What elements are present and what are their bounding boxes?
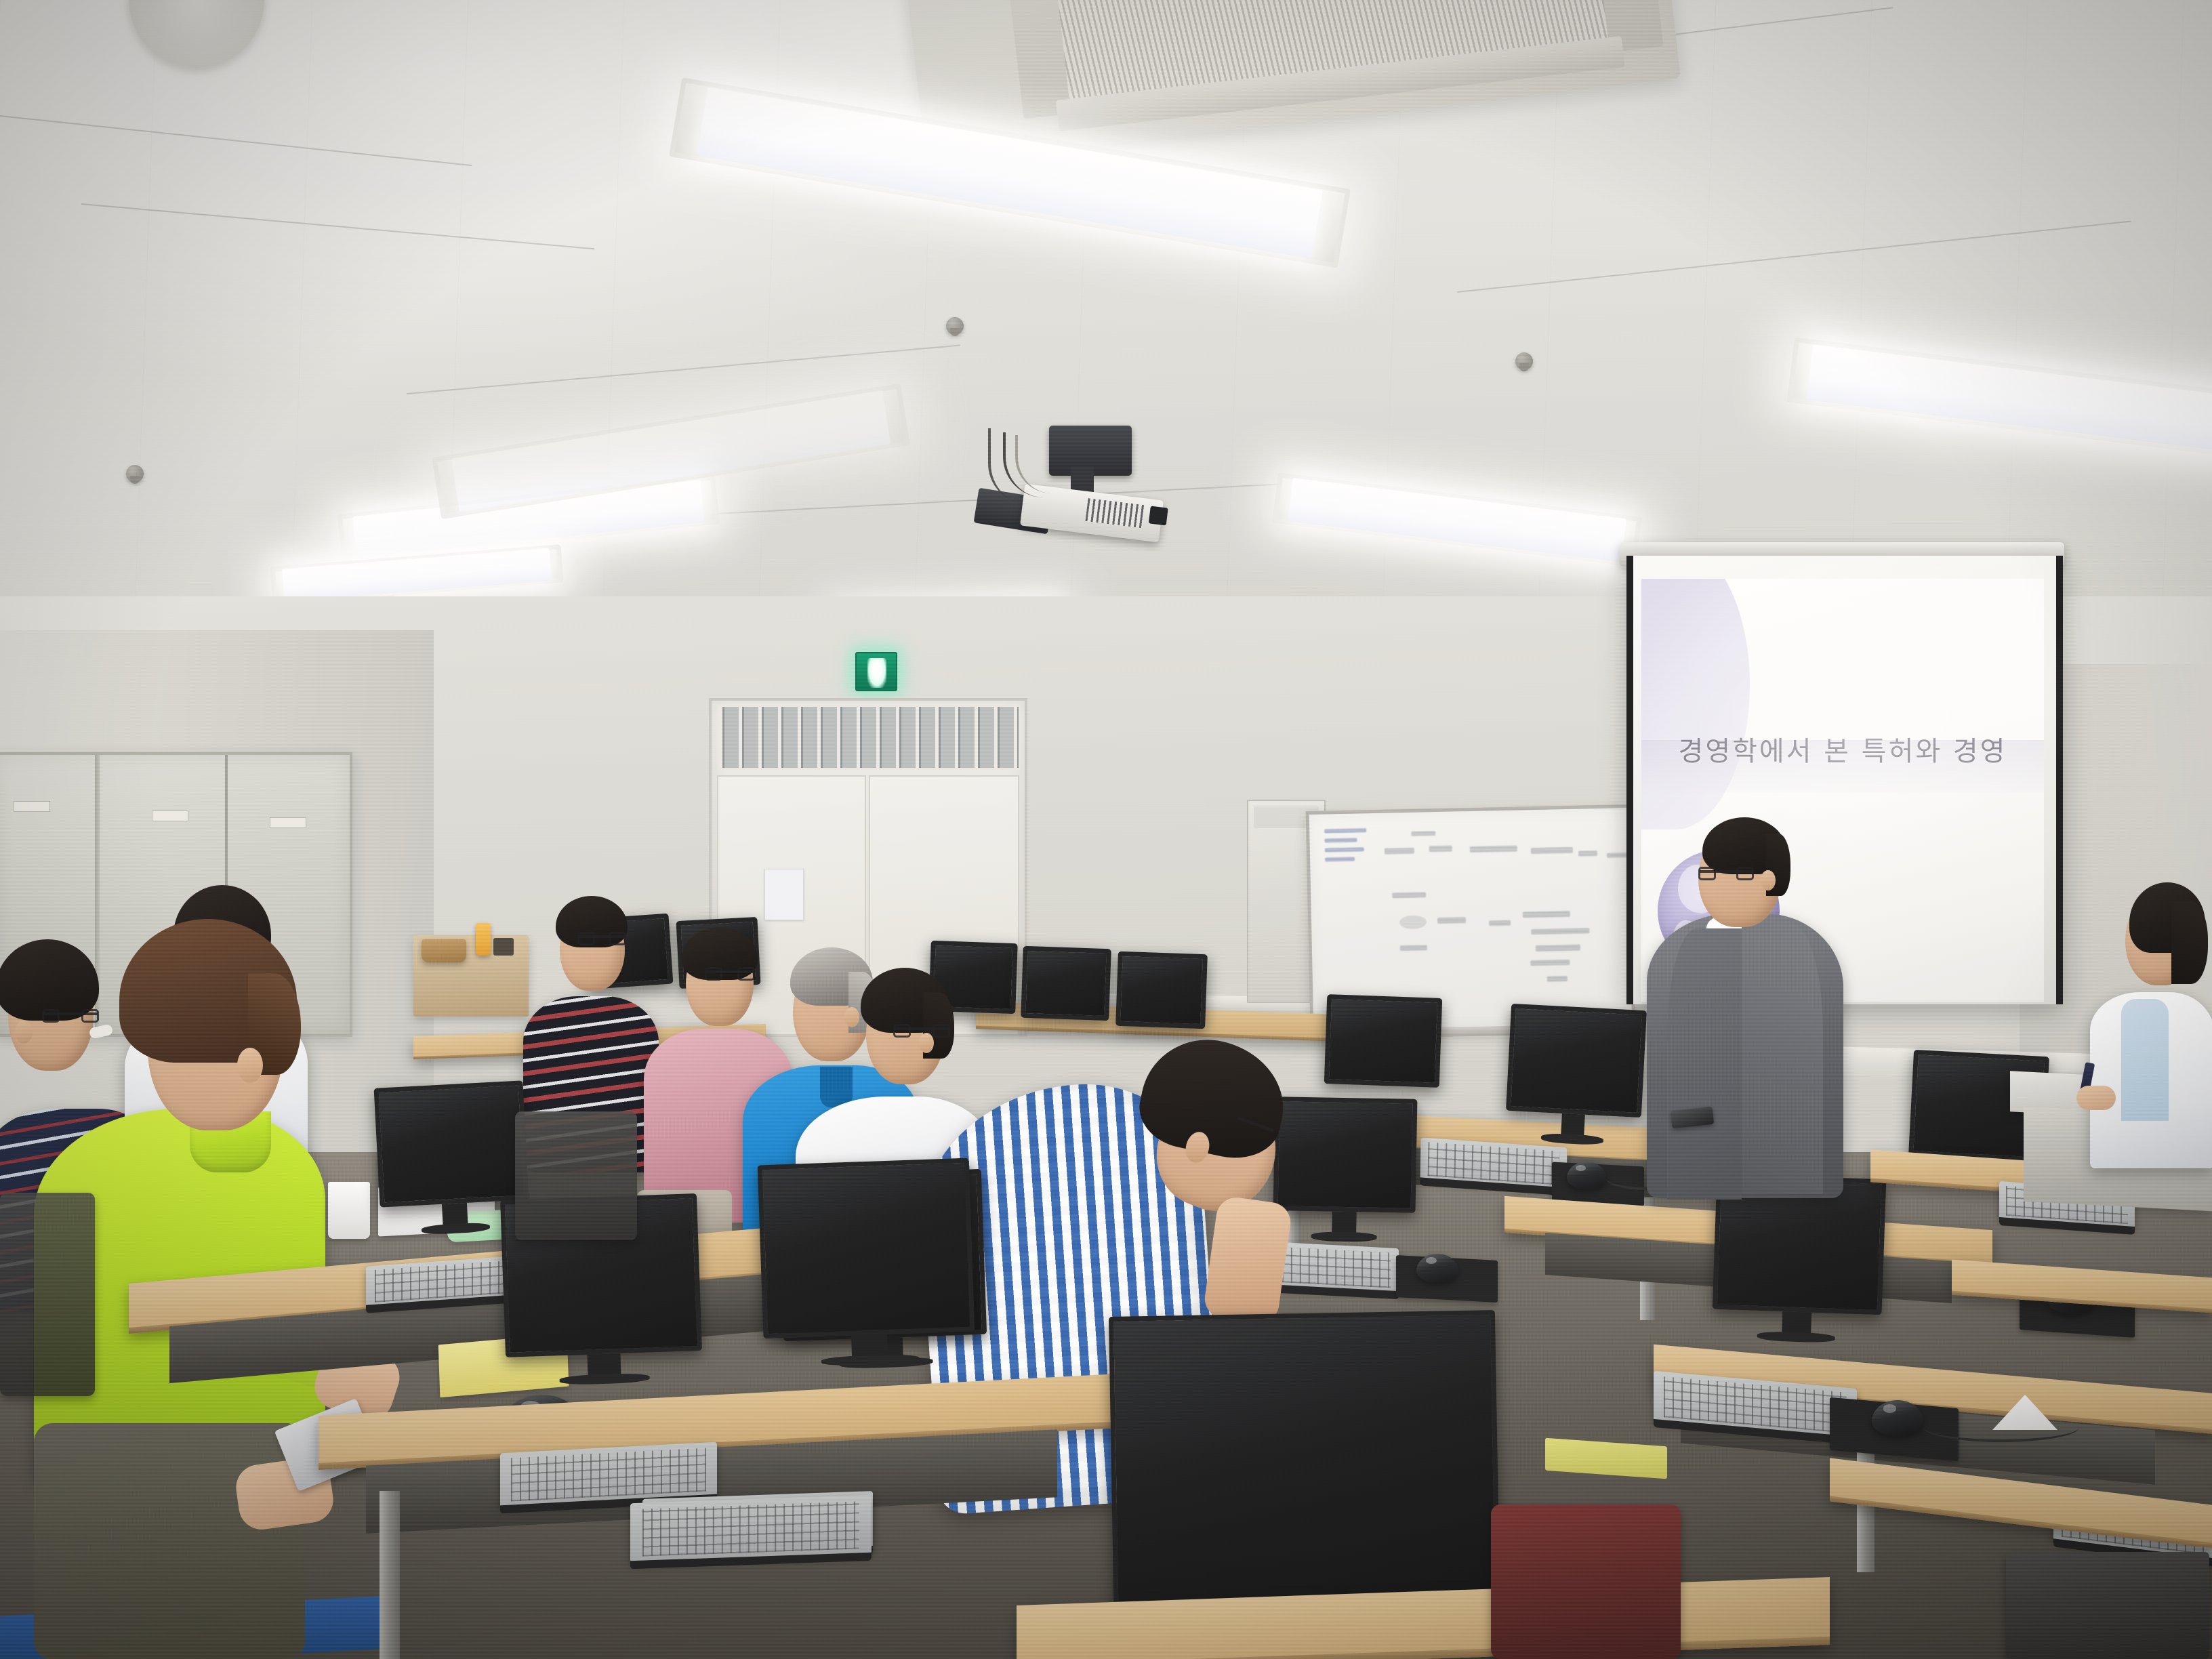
transom-window: [717, 705, 1021, 770]
sprinkler-icon: [946, 317, 964, 335]
woman-hand: [2076, 1086, 2116, 1110]
monitor: [1115, 951, 1208, 1029]
presenter-ear: [1761, 870, 1776, 890]
lime-polo-ear: [237, 1048, 263, 1083]
door-notice: [764, 869, 804, 920]
cabinet-label: [14, 801, 50, 812]
presenter-glasses: [1700, 870, 1753, 873]
chair[interactable]: [2006, 1552, 2209, 1659]
ceiling-projector: [976, 426, 1186, 554]
side-table: [413, 935, 529, 1017]
lime-polo-trousers: [34, 1423, 305, 1659]
desk-basket: [422, 939, 466, 962]
slide-title: 경영학에서 본 특허와 경영: [1641, 729, 2044, 769]
running-person-icon: [867, 658, 886, 688]
classroom-photo: 경영학에서 본 특허와 경영: [0, 0, 2212, 1659]
monitor: [758, 1158, 975, 1339]
monitor: [1273, 1097, 1418, 1213]
monitor: [1109, 1310, 1500, 1635]
white-shirt-mid-glasses: [895, 1027, 949, 1030]
person-woman-right: [2086, 865, 2212, 1149]
monitor: [1324, 994, 1443, 1088]
chair[interactable]: [1491, 1504, 1681, 1659]
cabinet-label: [270, 817, 306, 828]
chair[interactable]: [0, 1193, 95, 1396]
monitor: [374, 1080, 529, 1207]
sprinkler-icon: [1515, 352, 1533, 370]
woman-top: [2121, 999, 2169, 1121]
desk-object: [493, 938, 514, 956]
exit-sign: [855, 652, 897, 691]
red-stripe-glasses: [579, 935, 625, 938]
navy-stripe-ear: [15, 1021, 33, 1044]
keyboard[interactable]: [630, 1495, 872, 1563]
bottle: [476, 923, 491, 956]
cabinet-label: [152, 811, 188, 821]
monitor: [1021, 946, 1111, 1021]
mouse[interactable]: [1416, 1254, 1458, 1282]
woman-hair-side: [2171, 901, 2208, 984]
presenter-lapel-left: [1667, 928, 1742, 1200]
paper-cup: [328, 1182, 370, 1239]
presenter-lapel-right: [1742, 923, 1823, 1194]
desk-leg: [380, 1491, 400, 1659]
chair[interactable]: [515, 1111, 637, 1240]
sprinkler-icon: [126, 465, 144, 483]
projector-vents: [1085, 498, 1145, 528]
projector-lens-icon: [1149, 506, 1168, 526]
person-presenter: [1640, 813, 1864, 1193]
